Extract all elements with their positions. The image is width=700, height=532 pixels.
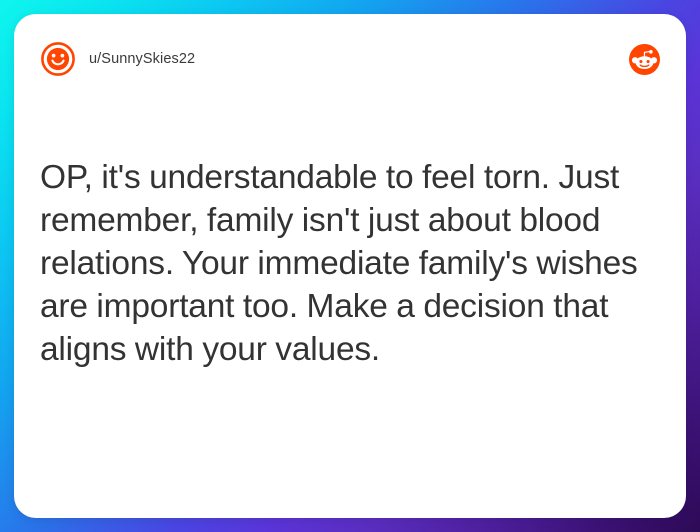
card-header: u/SunnySkies22	[14, 14, 686, 104]
username-label: u/SunnySkies22	[89, 51, 195, 67]
reddit-snoo-icon[interactable]	[629, 44, 660, 75]
gradient-backdrop: u/SunnySkies22	[0, 0, 700, 532]
comment-text: OP, it's understandable to feel torn. Ju…	[40, 156, 648, 371]
smiley-face-icon	[40, 41, 76, 77]
reddit-comment-card: u/SunnySkies22	[14, 14, 686, 518]
